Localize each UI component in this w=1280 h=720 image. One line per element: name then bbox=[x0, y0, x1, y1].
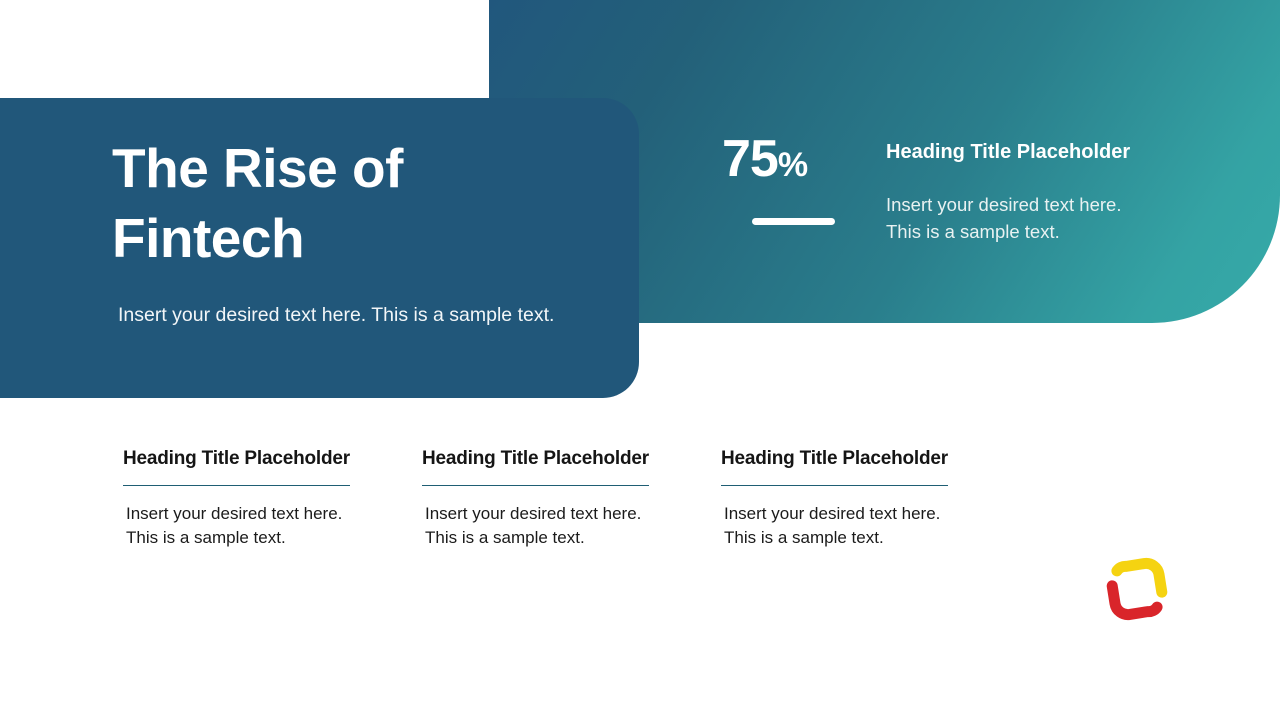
feature-column-divider bbox=[721, 485, 948, 486]
stat-block: 75% Heading Title Placeholder Insert you… bbox=[722, 133, 1152, 245]
feature-column-text: Insert your desired text here. This is a… bbox=[425, 502, 649, 550]
slide: The Rise of Fintech Insert your desired … bbox=[0, 0, 1280, 720]
stat-value-group: 75% bbox=[722, 133, 842, 245]
feature-column-text: Insert your desired text here. This is a… bbox=[126, 502, 350, 550]
feature-column: Heading Title Placeholder Insert your de… bbox=[721, 446, 948, 549]
title-card-body-text: Insert your desired text here. This is a… bbox=[118, 301, 558, 330]
feature-column: Heading Title Placeholder Insert your de… bbox=[422, 446, 649, 549]
feature-column-heading: Heading Title Placeholder bbox=[422, 446, 649, 472]
title-card: The Rise of Fintech Insert your desired … bbox=[0, 98, 639, 398]
feature-column-text: Insert your desired text here. This is a… bbox=[724, 502, 948, 550]
feature-column: Heading Title Placeholder Insert your de… bbox=[123, 446, 350, 549]
stat-value: 75 bbox=[722, 130, 778, 188]
stat-number: 75% bbox=[722, 133, 842, 185]
stat-body-text: Insert your desired text here. This is a… bbox=[886, 192, 1152, 245]
stat-text-group: Heading Title Placeholder Insert your de… bbox=[886, 133, 1152, 245]
feature-columns: Heading Title Placeholder Insert your de… bbox=[123, 446, 1123, 549]
stat-heading: Heading Title Placeholder bbox=[886, 138, 1152, 166]
page-title: The Rise of Fintech bbox=[112, 133, 582, 274]
brand-logo-icon bbox=[1104, 556, 1170, 622]
feature-column-heading: Heading Title Placeholder bbox=[123, 446, 350, 472]
feature-column-divider bbox=[422, 485, 649, 486]
stat-underline-rule bbox=[752, 218, 835, 225]
stat-unit: % bbox=[778, 146, 808, 184]
feature-column-heading: Heading Title Placeholder bbox=[721, 446, 948, 472]
feature-column-divider bbox=[123, 485, 350, 486]
